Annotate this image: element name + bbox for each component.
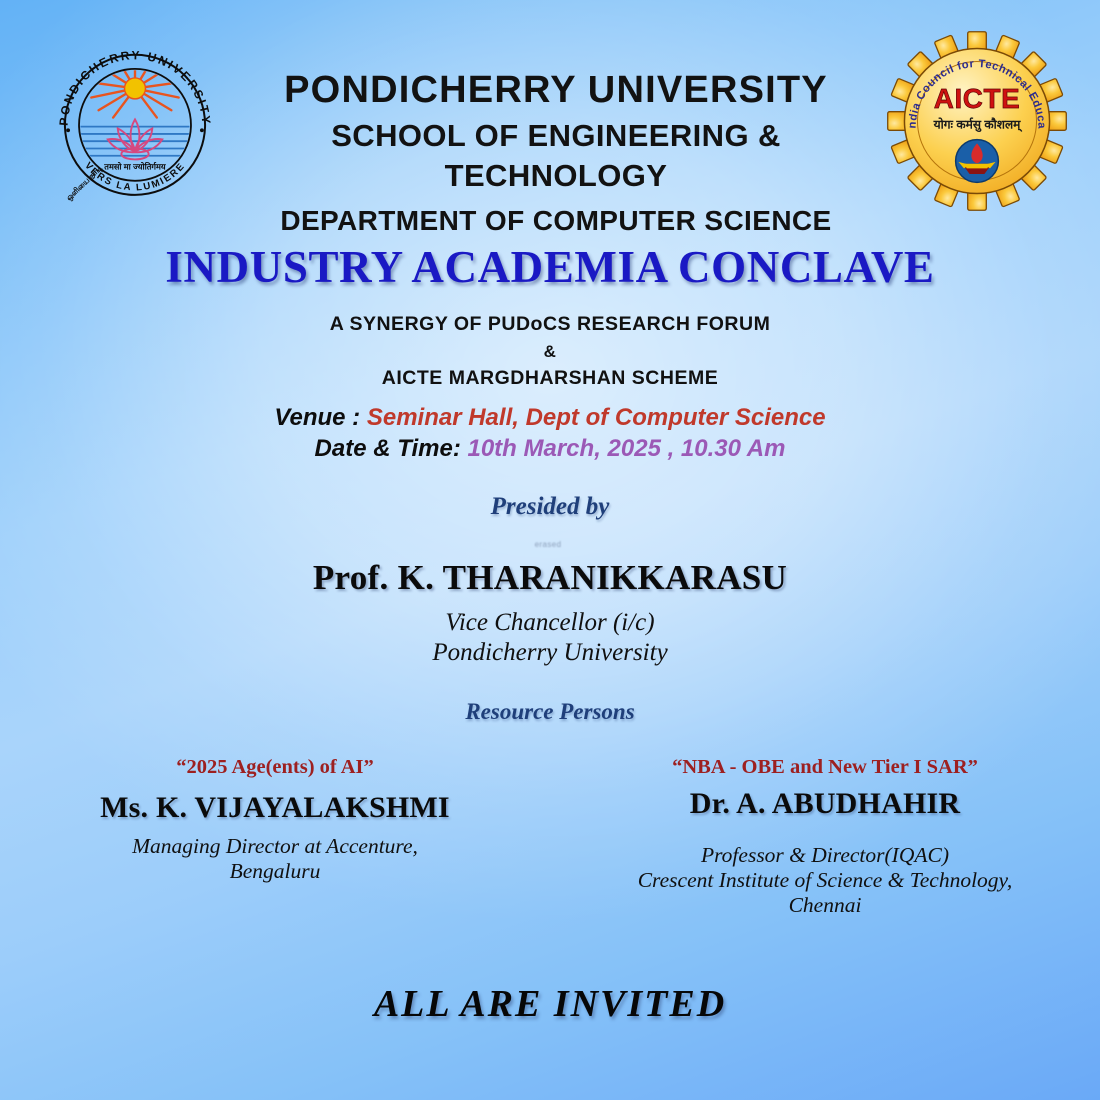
speaker-affiliation-line1: Managing Director at Accenture, xyxy=(14,834,536,859)
diya-lamp-icon xyxy=(956,140,999,183)
speaker-name: Dr. A. ABUDHAHIR xyxy=(564,787,1086,821)
presided-by-label: Presided by xyxy=(0,493,1100,521)
resource-persons-list: “2025 Age(ents) of AI” Ms. K. VIJAYALAKS… xyxy=(0,755,1100,917)
erased-text-artifact: erased xyxy=(523,540,573,550)
speaker-affiliation-line1: Professor & Director(IQAC) xyxy=(564,843,1086,868)
subtitle-ampersand: & xyxy=(0,339,1100,364)
header-line-university: PONDICHERRY UNIVERSITY xyxy=(236,68,876,112)
venue-row: Venue : Seminar Hall, Dept of Computer S… xyxy=(0,402,1100,433)
speaker-affiliation-line2: Bengaluru xyxy=(14,859,536,884)
speaker-topic: “2025 Age(ents) of AI” xyxy=(14,755,536,781)
pondicherry-university-logo: PONDICHERRY UNIVERSITY VERS LA LUMIERE xyxy=(44,32,226,214)
institution-header: PONDICHERRY UNIVERSITY SCHOOL OF ENGINEE… xyxy=(236,68,876,240)
chief-guest-affiliation: Vice Chancellor (i/c) Pondicherry Univer… xyxy=(0,608,1100,667)
venue-value: Seminar Hall, Dept of Computer Science xyxy=(367,404,826,431)
header-line-department: DEPARTMENT OF COMPUTER SCIENCE xyxy=(236,203,876,239)
speaker-card-vijayalakshmi: “2025 Age(ents) of AI” Ms. K. VIJAYALAKS… xyxy=(0,755,550,917)
chief-guest-designation: Vice Chancellor (i/c) xyxy=(0,608,1100,638)
header-line-school: SCHOOL OF ENGINEERING & TECHNOLOGY xyxy=(236,116,876,195)
aicte-acronym: AICTE xyxy=(934,83,1020,114)
speaker-name: Ms. K. VIJAYALAKSHMI xyxy=(14,791,536,825)
event-subtitle: A SYNERGY OF PUDoCS RESEARCH FORUM & AIC… xyxy=(0,310,1100,393)
subtitle-line-forum: A SYNERGY OF PUDoCS RESEARCH FORUM xyxy=(0,310,1100,339)
lotus-icon xyxy=(108,119,163,159)
aicte-sanskrit-motto: योगः कर्मसु कौशलम् xyxy=(933,116,1023,132)
venue-label: Venue : xyxy=(274,404,360,431)
event-details: Venue : Seminar Hall, Dept of Computer S… xyxy=(0,402,1100,464)
chief-guest-name: Prof. K. THARANIKKARASU xyxy=(0,558,1100,598)
chief-guest-institution: Pondicherry University xyxy=(0,638,1100,668)
speaker-affiliation: Managing Director at Accenture, Bengalur… xyxy=(14,834,536,884)
resource-persons-label: Resource Persons xyxy=(0,699,1100,725)
speaker-affiliation-line2: Crescent Institute of Science & Technolo… xyxy=(564,868,1086,893)
speaker-affiliation-line3: Chennai xyxy=(564,893,1086,918)
speaker-affiliation: Professor & Director(IQAC) Crescent Inst… xyxy=(564,843,1086,918)
all-are-invited-text: ALL ARE INVITED xyxy=(0,982,1100,1026)
speaker-topic: “NBA - OBE and New Tier I SAR” xyxy=(564,755,1086,781)
datetime-value: 10th March, 2025 , 10.30 Am xyxy=(467,435,785,462)
datetime-row: Date & Time: 10th March, 2025 , 10.30 Am xyxy=(0,433,1100,464)
datetime-label: Date & Time: xyxy=(315,435,461,462)
event-title: INDUSTRY ACADEMIA CONCLAVE xyxy=(0,241,1100,293)
subtitle-line-scheme: AICTE MARGDHARSHAN SCHEME xyxy=(0,364,1100,393)
pu-sanskrit-motto: तमसो मा ज्योतिर्गमय xyxy=(103,161,167,171)
aicte-logo: All India Council for Technical Educatio… xyxy=(884,28,1070,214)
event-poster: PONDICHERRY UNIVERSITY VERS LA LUMIERE xyxy=(0,0,1100,1100)
speaker-card-abudhahir: “NBA - OBE and New Tier I SAR” Dr. A. AB… xyxy=(550,755,1100,917)
